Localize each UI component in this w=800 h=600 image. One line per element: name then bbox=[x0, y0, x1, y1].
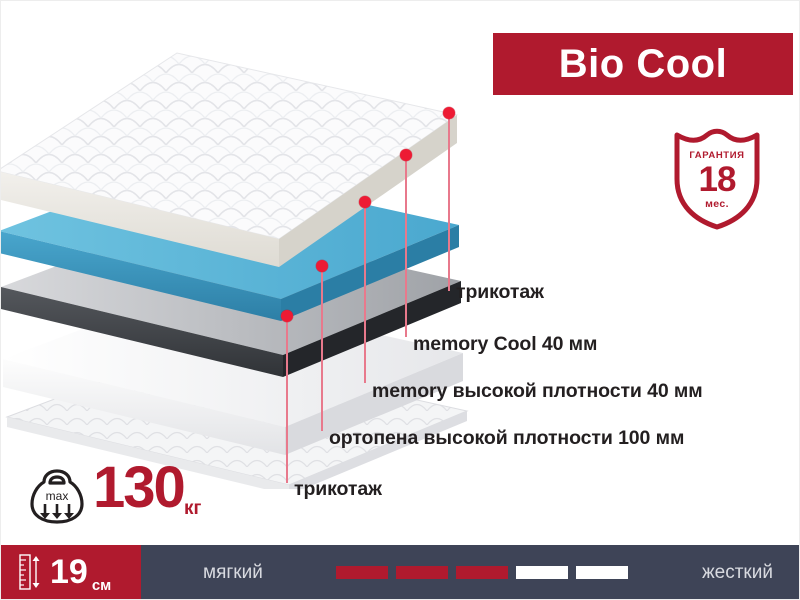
firmness-mark-3 bbox=[456, 566, 508, 579]
leader-line-memory-hd bbox=[364, 205, 366, 383]
leader-line-ortofoam bbox=[321, 269, 323, 431]
firmness-soft-label: мягкий bbox=[203, 563, 263, 582]
layer-label-knit-top: трикотаж bbox=[456, 283, 544, 303]
firmness-scale bbox=[336, 566, 628, 579]
layer-label-memory-cool: memory Cool 40 мм bbox=[413, 335, 597, 355]
leader-line-knit-top bbox=[448, 119, 450, 291]
layer-dot-memory-hd bbox=[359, 196, 371, 208]
firmness-mark-5 bbox=[576, 566, 628, 579]
kettlebell-max-icon: max bbox=[29, 467, 85, 525]
spec-bar: 19 см мягкий жесткий bbox=[1, 545, 800, 599]
mattress-layers-illustration bbox=[0, 19, 497, 489]
layer-dot-knit-bottom bbox=[281, 310, 293, 322]
product-infographic: Bio Cool ГАРАНТИЯ 18 мес. bbox=[0, 0, 800, 600]
firmness-block: мягкий жесткий bbox=[141, 545, 800, 599]
height-block: 19 см bbox=[1, 545, 141, 599]
warranty-badge: ГАРАНТИЯ 18 мес. bbox=[669, 127, 765, 231]
mattress-graphic bbox=[0, 19, 497, 489]
layer-label-knit-bottom: трикотаж bbox=[294, 480, 382, 500]
layer-dot-ortofoam bbox=[316, 260, 328, 272]
firmness-mark-1 bbox=[336, 566, 388, 579]
layer-label-ortofoam: ортопена высокой плотности 100 мм bbox=[329, 429, 684, 449]
warranty-value: 18 bbox=[669, 162, 765, 197]
firmness-mark-2 bbox=[396, 566, 448, 579]
svg-text:max: max bbox=[46, 489, 69, 503]
warranty-unit: мес. bbox=[669, 199, 765, 210]
leader-line-memory-cool bbox=[405, 159, 407, 337]
height-unit: см bbox=[92, 578, 111, 593]
leader-line-knit-bottom bbox=[286, 319, 288, 483]
max-load-value: 130 bbox=[93, 459, 184, 517]
max-load-unit: кг bbox=[184, 499, 201, 518]
layer-label-memory-hd: memory высокой плотности 40 мм bbox=[372, 382, 703, 402]
layer-dot-memory-cool bbox=[400, 149, 412, 161]
firmness-hard-label: жесткий bbox=[702, 563, 773, 582]
brand-name: Bio Cool bbox=[559, 44, 727, 84]
ruler-icon bbox=[19, 554, 41, 590]
brand-plate: Bio Cool bbox=[493, 33, 793, 95]
layer-dot-knit-top bbox=[443, 107, 455, 119]
firmness-mark-4 bbox=[516, 566, 568, 579]
height-value: 19 bbox=[50, 555, 88, 589]
